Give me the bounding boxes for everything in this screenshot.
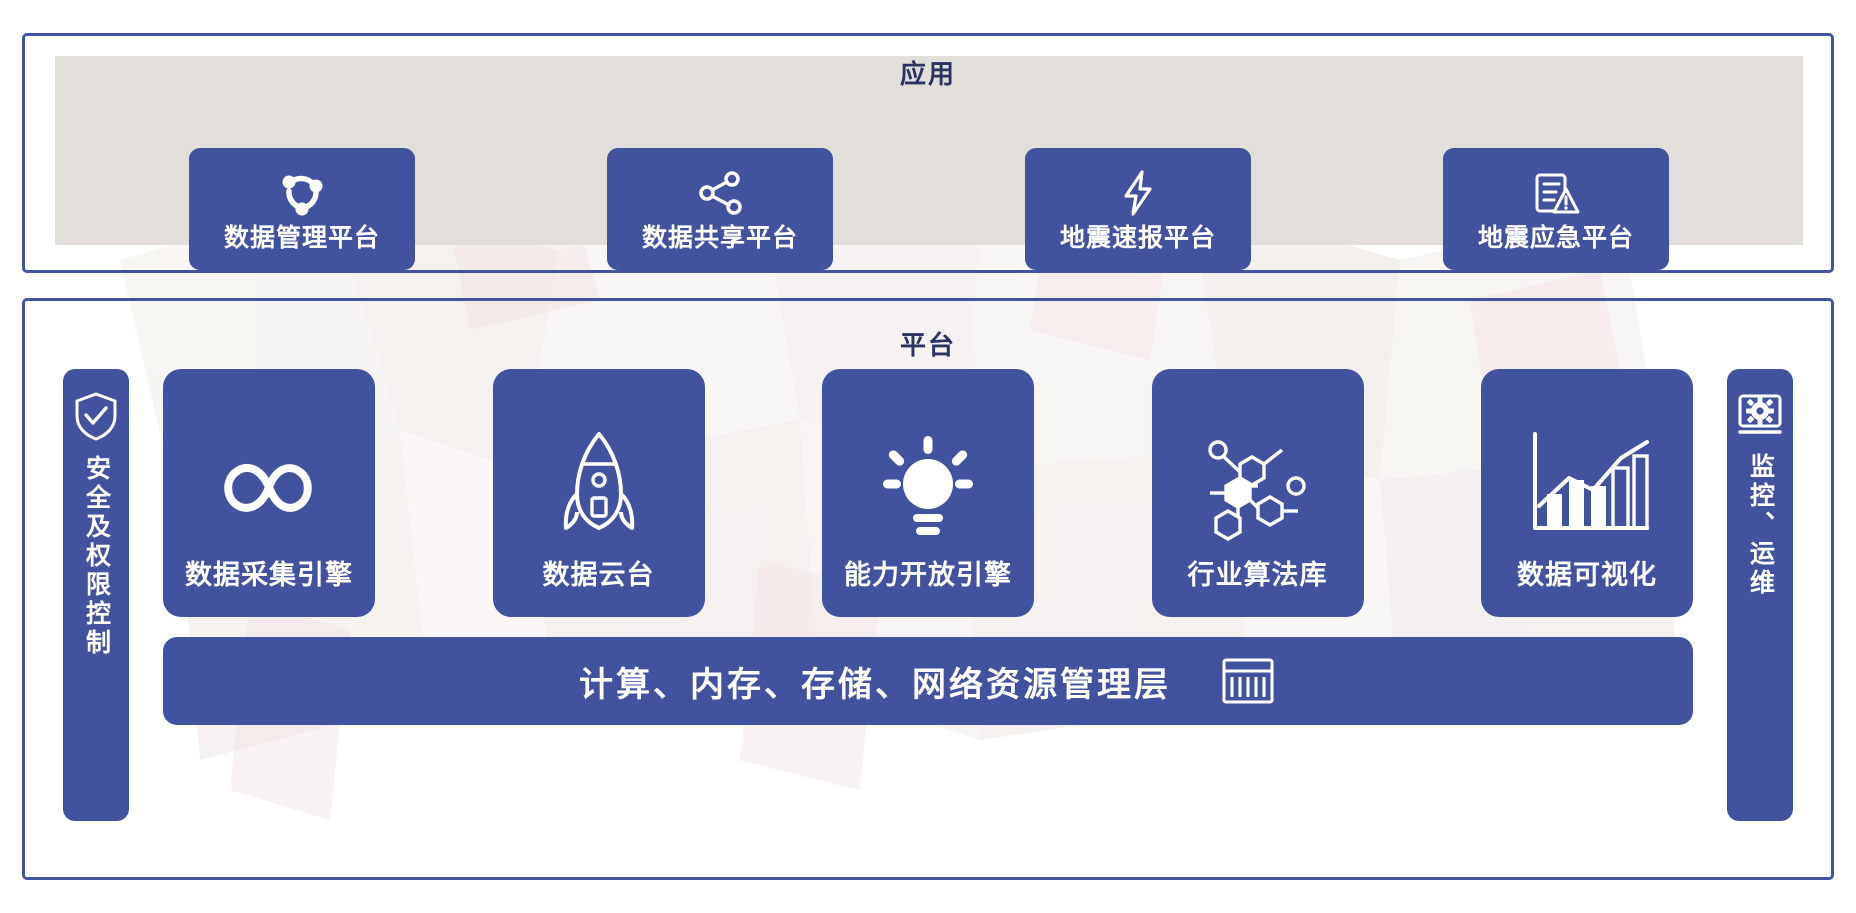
app-card-label: 地震应急平台	[1478, 225, 1634, 253]
app-card-label: 地震速报平台	[1060, 225, 1216, 253]
infinity-icon	[210, 427, 328, 547]
platform-card-label: 数据可视化	[1517, 561, 1657, 591]
app-card-label: 数据管理平台	[224, 225, 380, 253]
platform-card-collection-engine[interactable]: 数据采集引擎	[163, 369, 375, 617]
molecule-icon	[1196, 427, 1320, 547]
shield-check-icon	[73, 391, 119, 441]
architecture-diagram: 应用 数据管理平台	[0, 0, 1856, 913]
pillar-security[interactable]: 安全及权限控制	[63, 369, 129, 821]
platform-card-row: 数据采集引擎 数据云台	[163, 369, 1693, 617]
app-card-label: 数据共享平台	[642, 225, 798, 253]
lightning-bolt-icon	[1112, 165, 1164, 221]
platform-card-label: 能力开放引擎	[844, 561, 1012, 591]
resource-management-bar[interactable]: 计算、内存、存储、网络资源管理层	[163, 637, 1693, 725]
platform-section-title: 平台	[25, 325, 1831, 362]
platform-card-label: 数据采集引擎	[185, 561, 353, 591]
application-section-title: 应用	[25, 54, 1831, 91]
platform-card-data-cloud[interactable]: 数据云台	[493, 369, 705, 617]
share-nodes-icon	[694, 165, 746, 221]
rocket-icon	[556, 427, 642, 547]
app-card-data-sharing[interactable]: 数据共享平台	[607, 148, 833, 270]
platform-card-visualization[interactable]: 数据可视化	[1481, 369, 1693, 617]
document-alert-icon	[1530, 165, 1582, 221]
bar-chart-icon	[1523, 427, 1651, 547]
pillar-security-label: 安全及权限控制	[84, 455, 109, 658]
platform-card-capability-engine[interactable]: 能力开放引擎	[822, 369, 1034, 617]
monitor-gear-icon	[1736, 391, 1784, 439]
app-card-quick-report[interactable]: 地震速报平台	[1025, 148, 1251, 270]
platform-card-label: 数据云台	[543, 561, 655, 591]
resource-bar-label: 计算、内存、存储、网络资源管理层	[579, 657, 1171, 706]
server-rack-icon	[1219, 656, 1277, 706]
app-card-data-management[interactable]: 数据管理平台	[189, 148, 415, 270]
platform-section: 平台 安全及权限控制	[22, 298, 1834, 880]
application-card-row: 数据管理平台 数据共享平台	[55, 148, 1803, 270]
platform-card-algorithm-library[interactable]: 行业算法库	[1152, 369, 1364, 617]
data-network-icon	[276, 165, 328, 221]
pillar-monitoring[interactable]: 监控、运维	[1727, 369, 1793, 821]
application-section: 应用 数据管理平台	[22, 33, 1834, 273]
pillar-monitoring-label: 监控、运维	[1748, 453, 1773, 598]
platform-card-label: 行业算法库	[1188, 561, 1328, 591]
lightbulb-icon	[869, 427, 987, 547]
app-card-emergency[interactable]: 地震应急平台	[1443, 148, 1669, 270]
